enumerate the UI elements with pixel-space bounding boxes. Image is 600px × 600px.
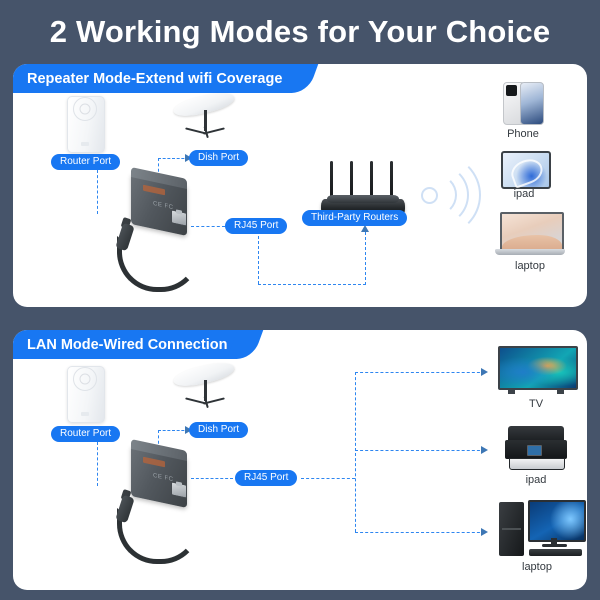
caption-laptop: laptop (500, 260, 560, 272)
connector-rj45-right (301, 478, 355, 479)
pill-router-port: Router Port (51, 154, 120, 170)
panel-lan-mode: LAN Mode-Wired Connection CE FC TV (13, 330, 587, 590)
tablet-icon (501, 151, 547, 185)
satellite-dish-icon (173, 96, 239, 152)
connector-rj45-bottom (258, 284, 366, 285)
connector-router-port (97, 170, 98, 214)
pill-dish-port: Dish Port (189, 422, 248, 438)
connector-router-port (97, 442, 98, 486)
banner-repeater-mode: Repeater Mode-Extend wifi Coverage (13, 64, 300, 93)
connector-router-up (365, 232, 366, 285)
pill-dish-port: Dish Port (189, 150, 248, 166)
television-icon (498, 346, 574, 394)
poe-adapter-icon: CE FC (119, 450, 197, 562)
connector-rj45-left (191, 478, 233, 479)
printer-icon (505, 426, 567, 470)
smartphone-icon (503, 82, 543, 124)
product-infographic: 2 Working Modes for Your Choice Repeater… (0, 0, 600, 600)
satellite-dish-icon (173, 366, 239, 422)
arrow-printer (481, 446, 488, 454)
arrow-tv (481, 368, 488, 376)
connector-branch-desktop (355, 532, 485, 533)
poe-adapter-icon: CE FC (119, 178, 197, 290)
pill-third-party-routers: Third-Party Routers (302, 210, 407, 226)
page-title: 2 Working Modes for Your Choice (0, 14, 600, 50)
white-wall-router-icon (67, 96, 103, 151)
caption-desktop: laptop (507, 561, 567, 573)
caption-printer: ipad (506, 474, 566, 486)
desktop-computer-icon (499, 500, 583, 558)
laptop-icon (495, 212, 565, 256)
panel-repeater-mode: Repeater Mode-Extend wifi Coverage CE FC (13, 64, 587, 307)
caption-tv: TV (506, 398, 566, 410)
white-wall-router-icon (67, 366, 103, 421)
wifi-signal-icon (421, 156, 479, 234)
banner-repeater-label: Repeater Mode-Extend wifi Coverage (27, 71, 282, 87)
arrow-third-party-router (361, 225, 369, 232)
pill-router-port: Router Port (51, 426, 120, 442)
pill-rj45-port: RJ45 Port (225, 218, 287, 234)
arrow-desktop (481, 528, 488, 536)
connector-branch-tv (355, 372, 485, 373)
connector-rj45-v (258, 226, 259, 284)
connector-branch-printer (355, 450, 485, 451)
connector-bus-vertical (355, 372, 356, 532)
black-router-icon (321, 158, 405, 216)
banner-lan-label: LAN Mode-Wired Connection (27, 337, 227, 353)
caption-ipad: ipad (494, 188, 554, 200)
banner-lan-mode: LAN Mode-Wired Connection (13, 330, 245, 359)
caption-phone: Phone (493, 128, 553, 140)
pill-rj45-port: RJ45 Port (235, 470, 297, 486)
